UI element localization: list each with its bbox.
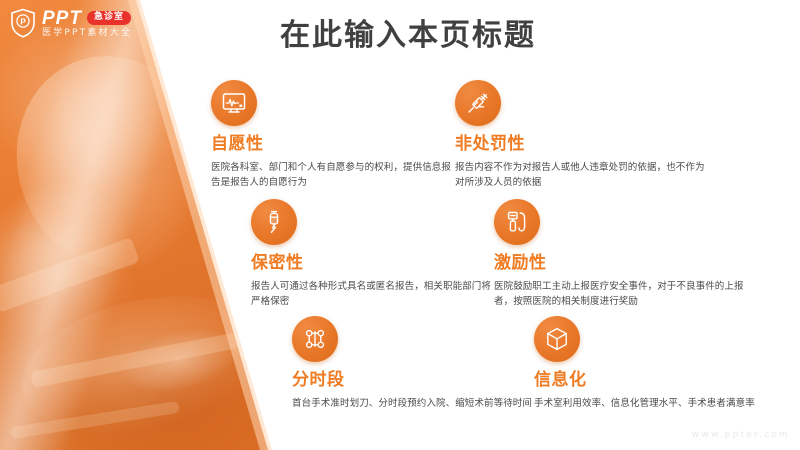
feature-body: 报告人可通过各种形式具名或匿名报告，相关职能部门将严格保密 bbox=[251, 279, 496, 310]
blood-pressure-monitor-icon bbox=[494, 199, 540, 245]
feature-item-non-punitive[interactable]: 非处罚性 报告内容不作为对报告人或他人违章处罚的依据，也不作为对所涉及人员的依据 bbox=[455, 80, 713, 191]
feature-item-voluntary[interactable]: 自愿性 医院各科室、部门和个人有自愿参与的权利，提供信息报告是报告人的自愿行为 bbox=[211, 80, 456, 191]
feature-item-time-slot[interactable]: 分时段 首台手术准时划刀、分时段预约入院、缩短术前等待时间 bbox=[292, 316, 537, 411]
feature-body: 报告内容不作为对报告人或他人违章处罚的依据，也不作为对所涉及人员的依据 bbox=[455, 160, 713, 191]
brand-row-primary: PPT 急诊室 bbox=[42, 9, 132, 28]
feature-item-incentive[interactable]: 激励性 医院鼓励职工主动上报医疗安全事件，对于不良事件的上报者，按照医院的相关制… bbox=[494, 199, 752, 310]
page-title: 在此输入本页标题 bbox=[280, 18, 536, 54]
brand-logo[interactable]: P PPT 急诊室 医学PPT素材大全 bbox=[10, 8, 132, 38]
syringe-icon bbox=[455, 80, 501, 126]
feature-body: 医院鼓励职工主动上报医疗安全事件，对于不良事件的上报者，按照医院的相关制度进行奖… bbox=[494, 279, 752, 310]
brand-name: PPT bbox=[42, 9, 82, 28]
feature-heading: 自愿性 bbox=[211, 135, 456, 155]
slide-canvas: P PPT 急诊室 医学PPT素材大全 在此输入本页标题 自愿性 医院各科室、部… bbox=[0, 0, 800, 450]
molecule-lattice-icon bbox=[292, 316, 338, 362]
ecg-monitor-icon bbox=[211, 80, 257, 126]
feature-body: 首台手术准时划刀、分时段预约入院、缩短术前等待时间 bbox=[292, 396, 537, 412]
shield-p-icon: P bbox=[10, 8, 36, 38]
brand-text: PPT 急诊室 医学PPT素材大全 bbox=[42, 9, 132, 38]
feature-item-informatization[interactable]: 信息化 手术室利用效率、信息化管理水平、手术患者满意率 bbox=[534, 316, 792, 411]
feature-heading: 保密性 bbox=[251, 254, 496, 274]
brand-badge: 急诊室 bbox=[87, 11, 131, 25]
feature-item-confidentiality[interactable]: 保密性 报告人可通过各种形式具名或匿名报告，相关职能部门将严格保密 bbox=[251, 199, 496, 310]
feature-body: 医院各科室、部门和个人有自愿参与的权利，提供信息报告是报告人的自愿行为 bbox=[211, 160, 456, 191]
feature-heading: 激励性 bbox=[494, 254, 752, 274]
feature-heading: 非处罚性 bbox=[455, 135, 713, 155]
cube-box-icon bbox=[534, 316, 580, 362]
feature-heading: 分时段 bbox=[292, 371, 537, 391]
feature-body: 手术室利用效率、信息化管理水平、手术患者满意率 bbox=[534, 396, 792, 412]
site-watermark: www.ppter.com bbox=[692, 430, 790, 440]
svg-text:P: P bbox=[20, 17, 26, 27]
brand-tagline: 医学PPT素材大全 bbox=[42, 29, 132, 38]
iv-drip-icon bbox=[251, 199, 297, 245]
feature-heading: 信息化 bbox=[534, 371, 792, 391]
